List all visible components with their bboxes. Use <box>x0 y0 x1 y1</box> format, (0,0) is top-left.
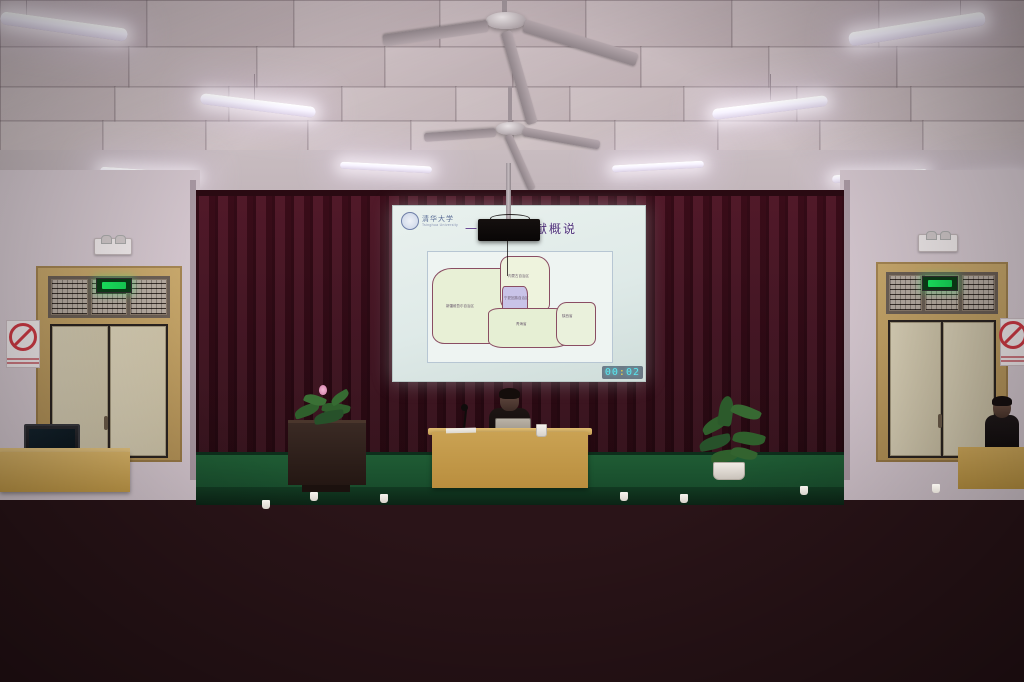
logo-text: 清华大学 <box>422 216 458 223</box>
lecture-hall-photo: 清华大学 Tsinghua University 一、水利文献概说 新疆维吾尔自… <box>0 0 1024 682</box>
exit-sign-left <box>96 278 132 293</box>
ceiling-tile <box>922 120 1024 152</box>
map-label-east: 陕西省 <box>562 314 573 319</box>
side-counter-person <box>985 398 1019 450</box>
ceiling-tile <box>585 0 733 48</box>
ceiling-tile <box>717 120 821 152</box>
timer-separator: : <box>619 367 626 378</box>
presenter-hair <box>499 388 520 399</box>
ceiling-tile <box>256 46 386 88</box>
ceiling-tile <box>910 86 1024 122</box>
transom-pane <box>889 275 922 311</box>
microphone-head <box>461 404 468 411</box>
paper-cup <box>680 494 688 503</box>
ceiling-tile <box>384 46 514 88</box>
ceiling-tile <box>569 86 685 122</box>
map-label-south: 青海省 <box>516 322 527 327</box>
timer-seconds: 02 <box>626 367 640 378</box>
ceiling-tile <box>205 120 309 152</box>
ceiling-tile <box>0 86 116 122</box>
paper-cup <box>800 486 808 495</box>
transom-pane <box>51 279 88 315</box>
ceiling-tile <box>341 86 457 122</box>
map-label-west: 新疆维吾尔自治区 <box>446 304 474 309</box>
projector-cable <box>507 238 508 276</box>
map-label-center: 宁夏回族自治区 <box>504 296 529 301</box>
presentation-timer: 00:02 <box>602 366 643 379</box>
ceiling-tile <box>102 120 206 152</box>
emergency-light-left <box>94 238 132 255</box>
ceiling-tile <box>146 0 294 48</box>
ceiling-tile <box>768 46 898 88</box>
paper-cup <box>620 492 628 501</box>
slide-map: 新疆维吾尔自治区 内蒙古自治区 宁夏回族自治区 青海省 陕西省 <box>427 251 613 363</box>
door-leaf-left[interactable] <box>890 322 941 456</box>
logo-subtext: Tsinghua University <box>422 223 458 227</box>
door-handle[interactable] <box>104 416 108 430</box>
cup-on-desk <box>536 424 547 437</box>
audience-area <box>0 455 1024 682</box>
ceiling-tile <box>307 120 411 152</box>
ceiling-tile <box>0 120 104 152</box>
wall-corner-right <box>844 180 850 480</box>
door-handle[interactable] <box>938 414 942 428</box>
ceiling-tile <box>614 120 718 152</box>
paper-cup <box>380 494 388 503</box>
paper-cup <box>932 484 940 493</box>
projector-mount-arm <box>506 163 511 221</box>
plant-flower <box>319 385 327 395</box>
emergency-light-right <box>918 234 958 252</box>
no-smoking-sign-left <box>6 320 40 368</box>
tsinghua-seal-icon: 清华大学 Tsinghua University <box>401 212 458 230</box>
papers-on-desk <box>446 428 476 434</box>
paper-cup <box>310 492 318 501</box>
map-region-east <box>556 302 596 346</box>
no-smoking-sign-right <box>1000 318 1024 366</box>
ceiling-tile <box>0 46 130 88</box>
exit-sign-right <box>922 276 958 291</box>
ceiling-tile <box>455 86 571 122</box>
transom-pane <box>962 275 995 311</box>
ceiling-projector <box>478 219 540 241</box>
timer-minutes: 00 <box>605 367 619 378</box>
door-leaf-right[interactable] <box>110 326 166 456</box>
ceiling-tile <box>819 120 923 152</box>
ceiling-tile <box>128 46 258 88</box>
transom-pane <box>130 279 167 315</box>
right-door-leaves[interactable] <box>888 320 996 458</box>
ceiling-tile <box>896 46 1024 88</box>
map-label-north: 内蒙古自治区 <box>508 274 529 279</box>
paper-cup <box>262 500 270 509</box>
lectern-plant <box>292 385 358 427</box>
ceiling-tile <box>640 46 770 88</box>
